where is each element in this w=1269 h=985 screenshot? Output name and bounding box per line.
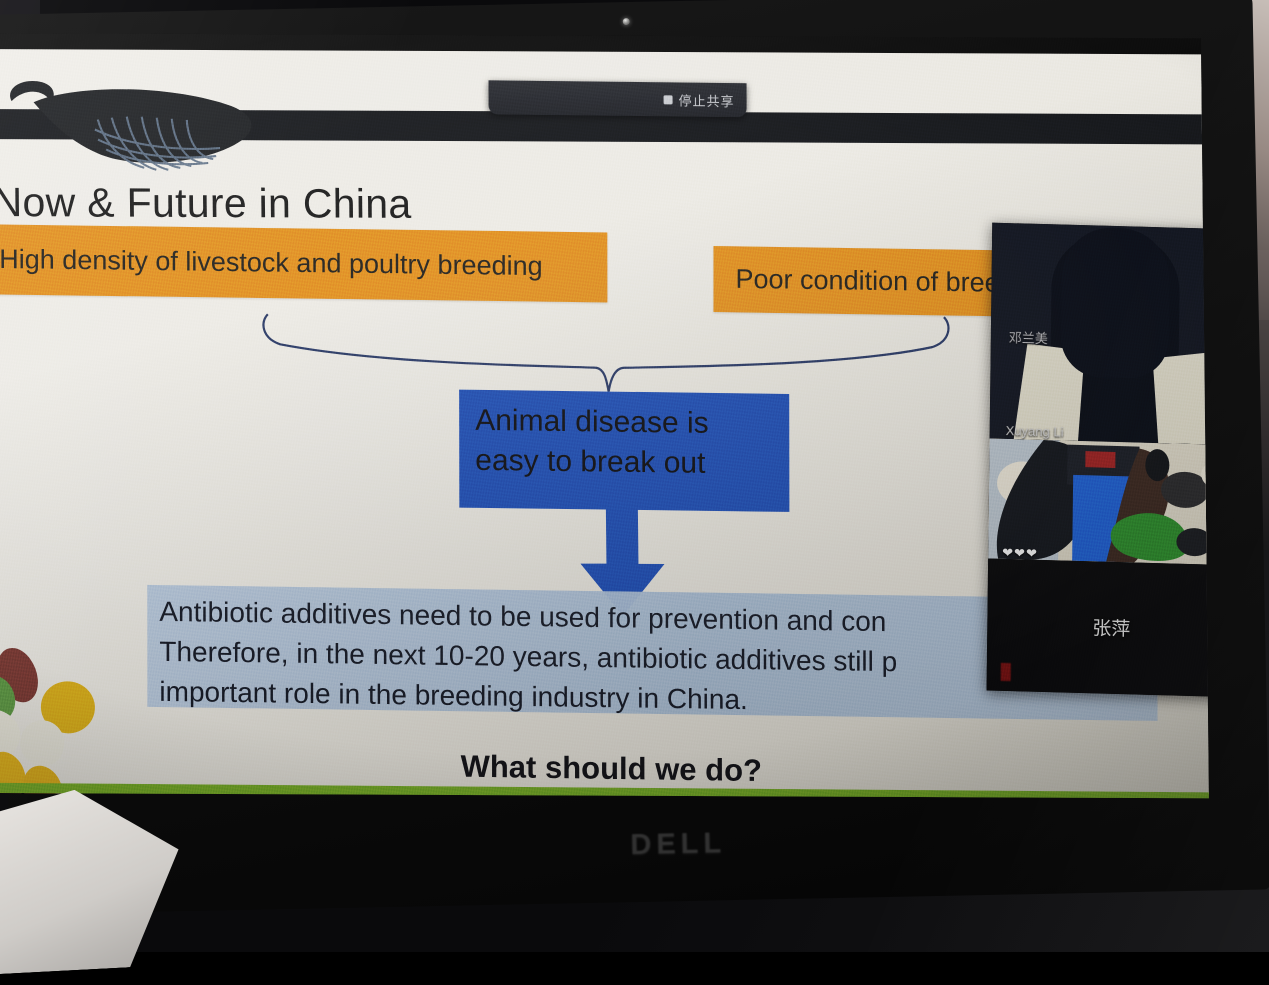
participant-name-2: Xuyang Li — [1006, 423, 1064, 440]
stop-share-button[interactable]: 停止共享 — [664, 89, 735, 110]
page-title: Now & Future in China — [0, 179, 693, 229]
silhouette-head — [1060, 227, 1170, 380]
cause-box-density-label: High density of livestock and poultry br… — [0, 244, 543, 282]
whale-icon — [0, 67, 284, 183]
dell-logo: DELL — [593, 821, 764, 868]
effect-box-text: Animal disease is easy to break out — [475, 401, 775, 485]
effect-box-line2: easy to break out — [475, 441, 775, 485]
mute-indicator-icon — [1001, 663, 1011, 681]
laptop-device: DELL Now — [0, 0, 1269, 985]
stop-share-label: 停止共享 — [679, 90, 735, 110]
reaction-hearts-icon: ❤❤❤ — [1002, 545, 1038, 562]
share-toolbar[interactable]: 停止共享 — [489, 80, 747, 117]
effect-box-line1: Animal disease is — [475, 401, 775, 445]
participant-video-strip[interactable]: 邓兰美 Xuy — [987, 223, 1209, 698]
effect-box: Animal disease is easy to break out — [459, 390, 789, 512]
laptop-screen: Now & Future in China High density of li… — [0, 33, 1209, 798]
silhouette-shoulder-right — [1152, 351, 1209, 445]
webcam-icon — [623, 18, 630, 25]
participant-name-1: 邓兰美 — [1009, 327, 1048, 347]
stop-square-icon — [664, 95, 673, 104]
cause-box-condition-label: Poor condition of breed — [735, 264, 1014, 299]
closing-question: What should we do? — [461, 749, 921, 792]
pills-capsules-icon — [0, 639, 187, 798]
cause-box-density: High density of livestock and poultry br… — [0, 224, 607, 302]
